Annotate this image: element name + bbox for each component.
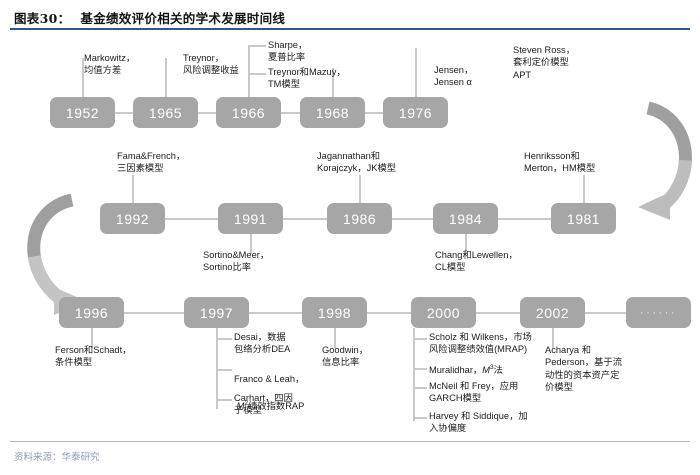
bracket-spine-1966 <box>248 45 250 97</box>
annotation-2000-harvey-siddique: Harvey 和 Siddique，加 入协偏度 <box>429 410 528 435</box>
bracket-tick-1966-a <box>248 45 266 47</box>
connector-1965-1966 <box>198 112 216 114</box>
timeline-node-2002[interactable]: 2002 <box>520 297 585 328</box>
node-year-label: 1986 <box>343 211 376 227</box>
connector-2000-2002 <box>476 312 520 314</box>
stub-1976 <box>415 48 417 97</box>
node-year-label: 1984 <box>449 211 482 227</box>
bracket-tick-2000-b <box>413 368 427 370</box>
timeline-node-1998[interactable]: 1998 <box>302 297 367 328</box>
connector-1997-1998 <box>249 312 302 314</box>
node-ellipsis-label: ······ <box>640 307 677 319</box>
node-year-label: 2000 <box>427 305 460 321</box>
timeline-node-1952[interactable]: 1952 <box>50 97 115 128</box>
annotation-1981: Henriksson和 Merton，HM模型 <box>524 150 595 175</box>
bracket-tick-1997-b <box>216 369 232 371</box>
annotation-1996: Ferson和Schadt， 条件模型 <box>55 344 131 369</box>
timeline-node-1968[interactable]: 1968 <box>300 97 365 128</box>
timeline-node-1992[interactable]: 1992 <box>100 203 165 234</box>
node-year-label: 1997 <box>200 305 233 321</box>
timeline-node-1996[interactable]: 1996 <box>59 297 124 328</box>
annotation-1966-sharpe: Sharpe， 夏普比率 <box>268 39 307 64</box>
node-year-label: 1966 <box>232 105 265 121</box>
annotation-1991: Sortino&Meer， Sortino比率 <box>203 249 269 274</box>
annotation-2000-mcneil-frey: McNeil 和 Frey，应用 GARCH模型 <box>429 380 518 405</box>
connector-1952-1965 <box>115 112 133 114</box>
stub-1986 <box>359 175 361 203</box>
timeline-node-2000[interactable]: 2000 <box>411 297 476 328</box>
timeline-node-1981[interactable]: 1981 <box>551 203 616 234</box>
annotation-2002: Acharya 和 Pederson，基于流 动性的资本资产定 价模型 <box>545 344 622 394</box>
bracket-tick-2000-c <box>413 387 427 389</box>
annotation-1997-desai: Desai，数据 包络分析DEA <box>234 331 290 356</box>
source-note: 资料来源：华泰研究 <box>14 449 100 463</box>
footer-divider <box>10 441 690 442</box>
timeline-node-1976[interactable]: 1976 <box>383 97 448 128</box>
node-year-label: 1996 <box>75 305 108 321</box>
annotation-1997-franco-leah-pre: Franco & Leah， <box>234 374 304 384</box>
header-divider <box>10 28 690 30</box>
annotation-1984: Chang和Lewellen， CL模型 <box>435 249 518 274</box>
timeline-node-1986[interactable]: 1986 <box>327 203 392 234</box>
figure-canvas: 图表30：基金绩效评价相关的学术发展时间线 1952 1965 1966 196… <box>0 0 700 475</box>
connector-2002-more <box>585 312 626 314</box>
page-title: 图表30：基金绩效评价相关的学术发展时间线 <box>14 8 285 27</box>
node-year-label: 1981 <box>567 211 600 227</box>
node-year-label: 1952 <box>66 105 99 121</box>
annotation-2000-muralidhar-post: 法 <box>494 365 503 375</box>
timeline-node-1966[interactable]: 1966 <box>216 97 281 128</box>
connector-1966-1968 <box>281 112 300 114</box>
figure-number: 图表30： <box>14 11 70 26</box>
node-year-label: 1965 <box>149 105 182 121</box>
timeline-node-1991[interactable]: 1991 <box>218 203 283 234</box>
node-year-label: 1992 <box>116 211 149 227</box>
timeline-node-1997[interactable]: 1997 <box>184 297 249 328</box>
annotation-2000-muralidhar-pre: Muralidhar， <box>429 365 482 375</box>
connector-1996-1997 <box>124 312 184 314</box>
stub-1965 <box>165 58 167 97</box>
connector-1991-1986 <box>283 218 327 220</box>
node-year-label: 1998 <box>318 305 351 321</box>
connector-1998-2000 <box>367 312 411 314</box>
bracket-tick-1966-b <box>248 73 266 75</box>
bracket-tick-1997-a <box>216 338 232 340</box>
annotation-1965: Treynor， 风险调整收益 <box>183 52 239 77</box>
annotation-2000-m-symbol: M <box>482 365 490 375</box>
bracket-tick-2000-d <box>413 417 427 419</box>
timeline-node-1965[interactable]: 1965 <box>133 97 198 128</box>
node-year-label: 1968 <box>316 105 349 121</box>
annotation-1976: Steven Ross， 套利定价模型 APT <box>513 44 575 81</box>
annotation-1986: Jagannathan和 Korajczyk，JK模型 <box>317 150 396 175</box>
node-year-label: 2002 <box>536 305 569 321</box>
timeline-node-1984[interactable]: 1984 <box>433 203 498 234</box>
annotation-1997-carhart: Carhart，四因 子模型 <box>234 392 293 417</box>
node-year-label: 1976 <box>399 105 432 121</box>
bracket-spine-2000 <box>413 328 415 421</box>
connector-1968-1976 <box>365 112 383 114</box>
connector-1986-1984 <box>392 218 433 220</box>
bracket-tick-2000-a <box>413 338 427 340</box>
connector-1992-1991 <box>165 218 218 220</box>
annotation-1952: Markowitz， 均值方差 <box>84 52 135 77</box>
timeline-node-more[interactable]: ······ <box>626 297 691 328</box>
annotation-1968: Jensen， Jensen α <box>434 64 473 89</box>
bracket-tick-1997-c <box>216 399 232 401</box>
stub-1981 <box>583 175 585 203</box>
figure-title-text: 基金绩效评价相关的学术发展时间线 <box>80 11 285 26</box>
annotation-1998: Goodwin， 信息比率 <box>322 344 368 369</box>
connector-1984-1981 <box>498 218 551 220</box>
node-year-label: 1991 <box>234 211 267 227</box>
annotation-2000-scholz-wilkens: Scholz 和 Wilkens，市场 风险调整绩效值(MRAP) <box>429 331 532 356</box>
stub-1992 <box>132 175 134 203</box>
annotation-2000-muralidhar: Muralidhar，M3法 <box>429 362 503 377</box>
annotation-1966-treynor-mazuy: Treynor和Mazuy， TM模型 <box>268 66 346 91</box>
annotation-1992: Fama&French， 三因素模型 <box>117 150 185 175</box>
